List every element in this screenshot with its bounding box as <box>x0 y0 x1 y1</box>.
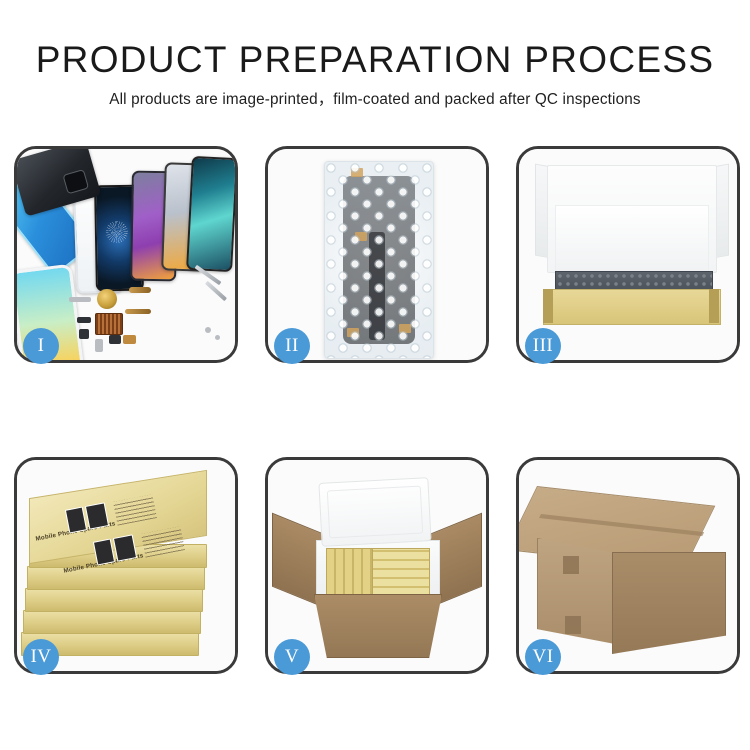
kraft-box-base <box>543 289 721 325</box>
step-badge-2: II <box>274 328 310 364</box>
process-card-5-image <box>268 460 486 671</box>
process-card-6: VI <box>516 457 740 674</box>
process-card-5: V <box>265 457 489 674</box>
process-card-2: II <box>265 146 489 363</box>
kraft-box-side-right <box>709 289 719 323</box>
stack-layer-2 <box>27 566 205 590</box>
page-title: PRODUCT PREPARATION PROCESS <box>0 0 750 78</box>
carton-tape-lower <box>565 616 581 634</box>
carton-packing-scene <box>268 460 486 671</box>
page-subtitle: All products are image-printed，film-coat… <box>0 78 750 107</box>
kraft-box-side-left <box>543 289 553 323</box>
step-badge-5: V <box>274 639 310 675</box>
battery-connector <box>109 335 121 344</box>
speaker-module <box>97 289 117 309</box>
step-badge-1: I <box>23 328 59 364</box>
stack-layer-3 <box>25 588 203 612</box>
antenna-strip <box>69 297 91 302</box>
packed-boxes-row-2 <box>372 548 430 596</box>
header: PRODUCT PREPARATION PROCESS All products… <box>0 0 750 107</box>
vibration-motor <box>79 329 89 339</box>
box-window-2b <box>113 534 137 561</box>
phone-teal <box>186 156 235 272</box>
white-foam-sheet <box>555 205 709 273</box>
flex-cable-2 <box>125 309 151 314</box>
sim-tray <box>95 339 103 352</box>
process-card-4-image: Mobile Phone Spare Parts Mobile Phone Sp… <box>17 460 235 671</box>
product-preparation-infographic: PRODUCT PREPARATION PROCESS All products… <box>0 0 750 750</box>
flex-cable-1 <box>129 287 151 293</box>
box-stack-scene: Mobile Phone Spare Parts Mobile Phone Sp… <box>17 460 235 671</box>
copper-shield <box>123 335 136 344</box>
bubble-texture <box>325 162 433 358</box>
process-card-1-image <box>17 149 235 360</box>
step-badge-3: III <box>525 328 561 364</box>
screwdriver-tool <box>205 281 227 301</box>
carton-right-panel <box>612 552 726 654</box>
process-card-1: I <box>14 146 238 363</box>
process-card-6-image <box>519 460 737 671</box>
box-window-1b <box>85 502 109 529</box>
step-badge-6: VI <box>525 639 561 675</box>
bubble-wrap-scene <box>268 149 486 360</box>
step-badge-4: IV <box>23 639 59 675</box>
stack-layer-4 <box>23 610 201 634</box>
process-card-4: Mobile Phone Spare Parts Mobile Phone Sp… <box>14 457 238 674</box>
process-card-3: III <box>516 146 740 363</box>
parts-overview-scene <box>17 149 235 360</box>
foam-box-scene <box>519 149 737 360</box>
logic-board-chip <box>95 313 123 335</box>
foam-container-lid <box>318 477 431 547</box>
screw-1 <box>205 327 211 333</box>
process-card-2-image <box>268 149 486 360</box>
process-step-grid: I II <box>14 146 740 674</box>
carton-front-panel <box>314 594 442 658</box>
sealed-carton-scene <box>519 460 737 671</box>
process-card-3-image <box>519 149 737 360</box>
bubble-wrap-bag <box>324 161 434 359</box>
screw-2 <box>215 335 220 340</box>
carton-tape-upper <box>563 556 579 574</box>
kraft-box-stack: Mobile Phone Spare Parts Mobile Phone Sp… <box>21 484 235 664</box>
camera-module <box>77 317 91 323</box>
